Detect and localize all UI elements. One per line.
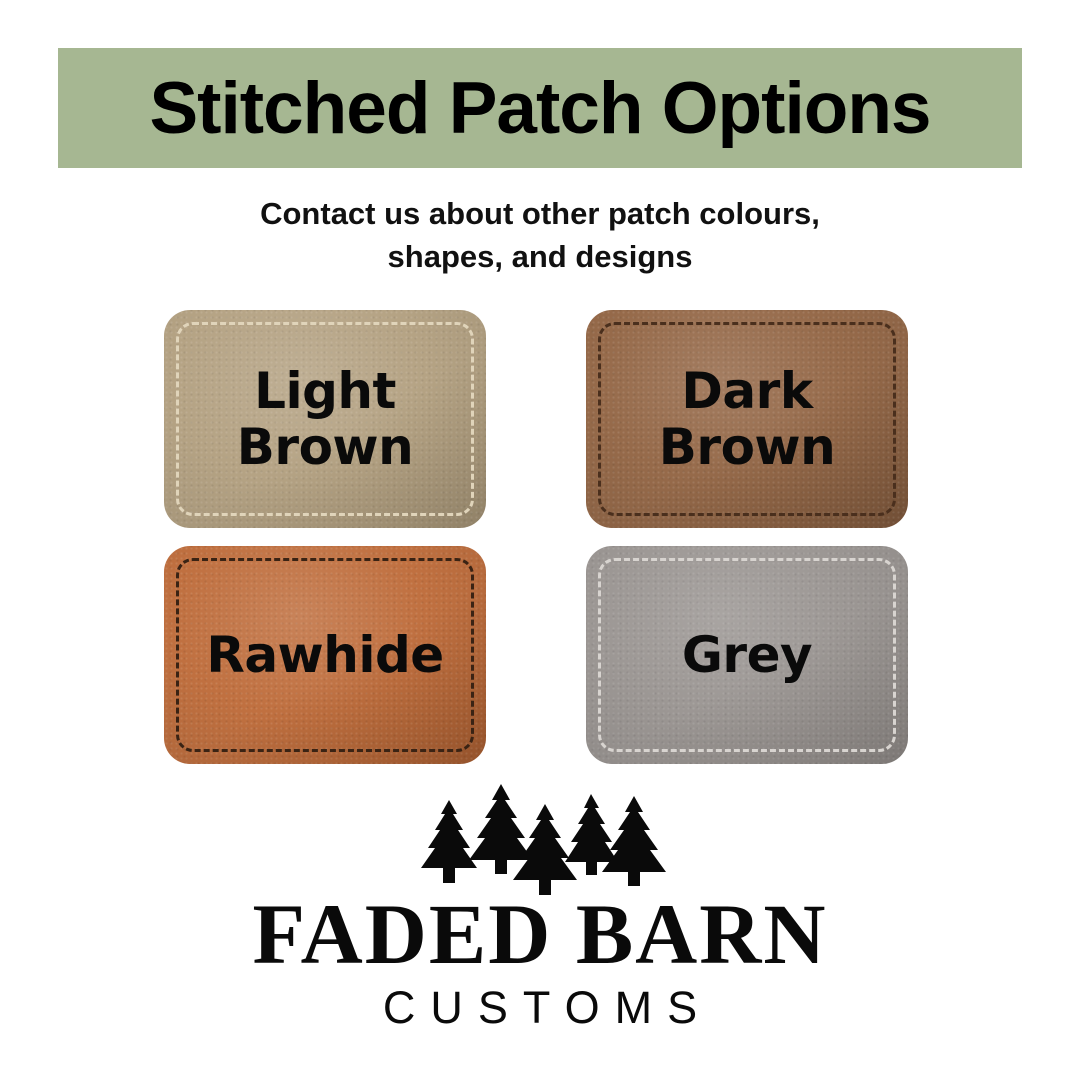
pine-trees-icon: [405, 778, 675, 898]
patch-label-rawhide: Rawhide: [192, 627, 457, 684]
patch-label-line-1: Light: [237, 363, 413, 420]
page-title: Stitched Patch Options: [149, 72, 930, 145]
logo-wordmark: FADED BARN: [0, 894, 1080, 976]
patch-swatch-grey[interactable]: Grey: [586, 546, 908, 764]
patch-swatch-dark-brown[interactable]: Dark Brown: [586, 310, 908, 528]
patch-label-line-2: Brown: [659, 419, 835, 476]
brand-logo: FADED BARN CUSTOMS: [0, 778, 1080, 1034]
patch-label-light-brown: Light Brown: [223, 363, 427, 476]
patch-swatch-rawhide[interactable]: Rawhide: [164, 546, 486, 764]
patch-label-line-1: Dark: [659, 363, 835, 420]
logo-subword: CUSTOMS: [0, 982, 1080, 1034]
patch-label-dark-brown: Dark Brown: [645, 363, 849, 476]
patch-label-line-1: Rawhide: [206, 627, 443, 684]
subtitle-line-2: shapes, and designs: [0, 235, 1080, 278]
patch-label-grey: Grey: [668, 627, 826, 684]
patch-label-line-2: Brown: [237, 419, 413, 476]
patch-swatch-light-brown[interactable]: Light Brown: [164, 310, 486, 528]
subtitle: Contact us about other patch colours, sh…: [0, 192, 1080, 278]
patch-swatch-grid: Light Brown Dark Brown Rawhide Grey: [0, 308, 1080, 768]
patch-label-line-1: Grey: [682, 627, 812, 684]
header-band: Stitched Patch Options: [58, 48, 1022, 168]
subtitle-line-1: Contact us about other patch colours,: [0, 192, 1080, 235]
